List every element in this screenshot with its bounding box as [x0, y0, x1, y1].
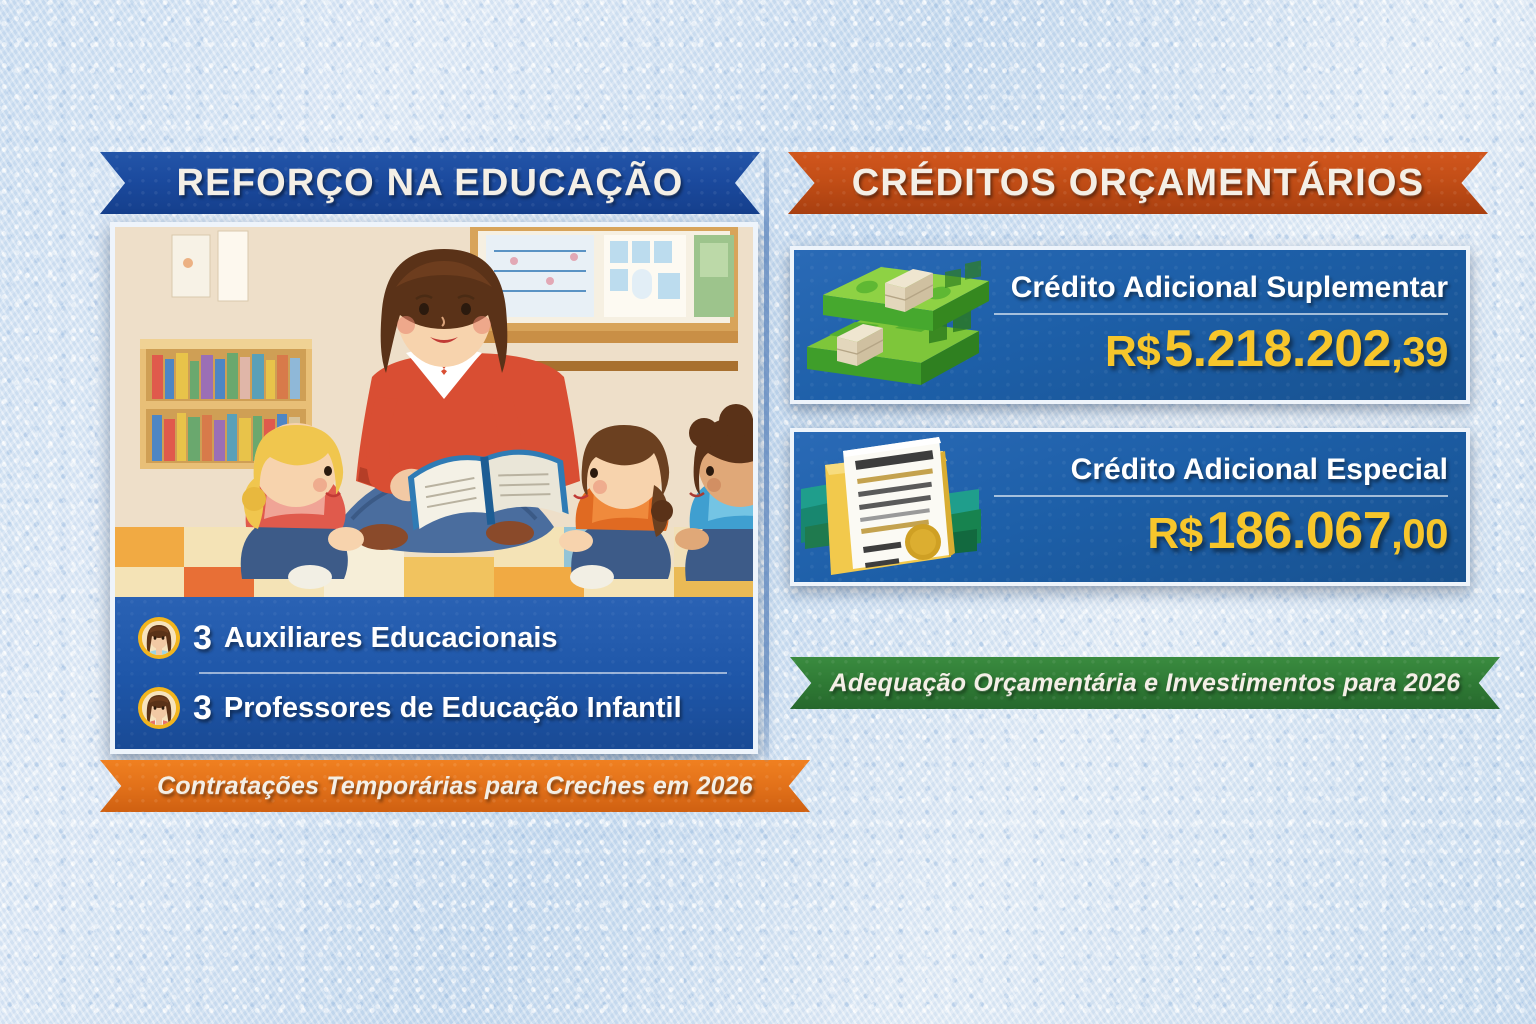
amount-integer: 5.218.202	[1164, 320, 1391, 378]
currency-symbol: R$	[1147, 509, 1202, 558]
left-footer-text: Contratações Temporárias para Creches em…	[157, 772, 753, 801]
person-avatar-icon	[137, 686, 181, 730]
teacher-reading-to-children-illustration	[115, 227, 753, 607]
panel-divider	[764, 150, 769, 762]
credit-card-rule	[994, 495, 1448, 497]
right-panel-title: CRÉDITOS ORÇAMENTÁRIOS	[852, 162, 1425, 205]
staffing-list: 3 Auxiliares Educacionais	[115, 597, 753, 749]
right-footer-text: Adequação Orçamentária e Investimentos p…	[830, 669, 1461, 698]
amount-integer: 186.067	[1207, 502, 1391, 560]
list-item-label: Professores de Educação Infantil	[224, 692, 682, 725]
left-footer-ribbon-face: Contratações Temporárias para Creches em…	[100, 760, 810, 812]
left-footer-ribbon: Contratações Temporárias para Creches em…	[100, 760, 810, 812]
list-item-label: Auxiliares Educacionais	[224, 622, 558, 655]
credit-card-label: Crédito Adicional Especial	[1071, 453, 1448, 487]
currency-symbol: R$	[1105, 327, 1160, 376]
money-stacks-icon	[794, 250, 994, 400]
credit-card-body: Crédito Adicional Suplementar R$5.218.20…	[994, 271, 1466, 379]
infographic-canvas: REFORÇO NA EDUCAÇÃO CRÉDITOS ORÇAMENTÁRI…	[0, 0, 1536, 1024]
right-title-ribbon: CRÉDITOS ORÇAMENTÁRIOS	[788, 152, 1488, 214]
amount-cents: ,00	[1391, 510, 1448, 557]
credit-card-value: R$5.218.202,39	[1105, 319, 1448, 379]
left-panel-title: REFORÇO NA EDUCAÇÃO	[177, 162, 684, 205]
list-item: 3 Auxiliares Educacionais	[137, 604, 735, 672]
credit-card-especial: Crédito Adicional Especial R$186.067,00	[790, 428, 1470, 586]
right-footer-ribbon: Adequação Orçamentária e Investimentos p…	[790, 657, 1500, 709]
credit-card-suplementar: Crédito Adicional Suplementar R$5.218.20…	[790, 246, 1470, 404]
left-title-ribbon-face: REFORÇO NA EDUCAÇÃO	[100, 152, 760, 214]
left-title-ribbon: REFORÇO NA EDUCAÇÃO	[100, 152, 760, 214]
person-avatar-icon	[137, 616, 181, 660]
right-title-ribbon-face: CRÉDITOS ORÇAMENTÁRIOS	[788, 152, 1488, 214]
credit-card-body: Crédito Adicional Especial R$186.067,00	[994, 453, 1466, 561]
certificate-document-icon	[794, 432, 994, 582]
list-item-count: 3	[193, 619, 212, 658]
list-item-count: 3	[193, 689, 212, 728]
credit-card-label: Crédito Adicional Suplementar	[1011, 271, 1448, 305]
amount-cents: ,39	[1391, 328, 1448, 375]
credit-card-value: R$186.067,00	[1147, 501, 1448, 561]
right-footer-ribbon-face: Adequação Orçamentária e Investimentos p…	[790, 657, 1500, 709]
credit-card-rule	[994, 313, 1448, 315]
list-item: 3 Professores de Educação Infantil	[137, 674, 735, 742]
education-panel: 3 Auxiliares Educacionais	[110, 222, 758, 754]
